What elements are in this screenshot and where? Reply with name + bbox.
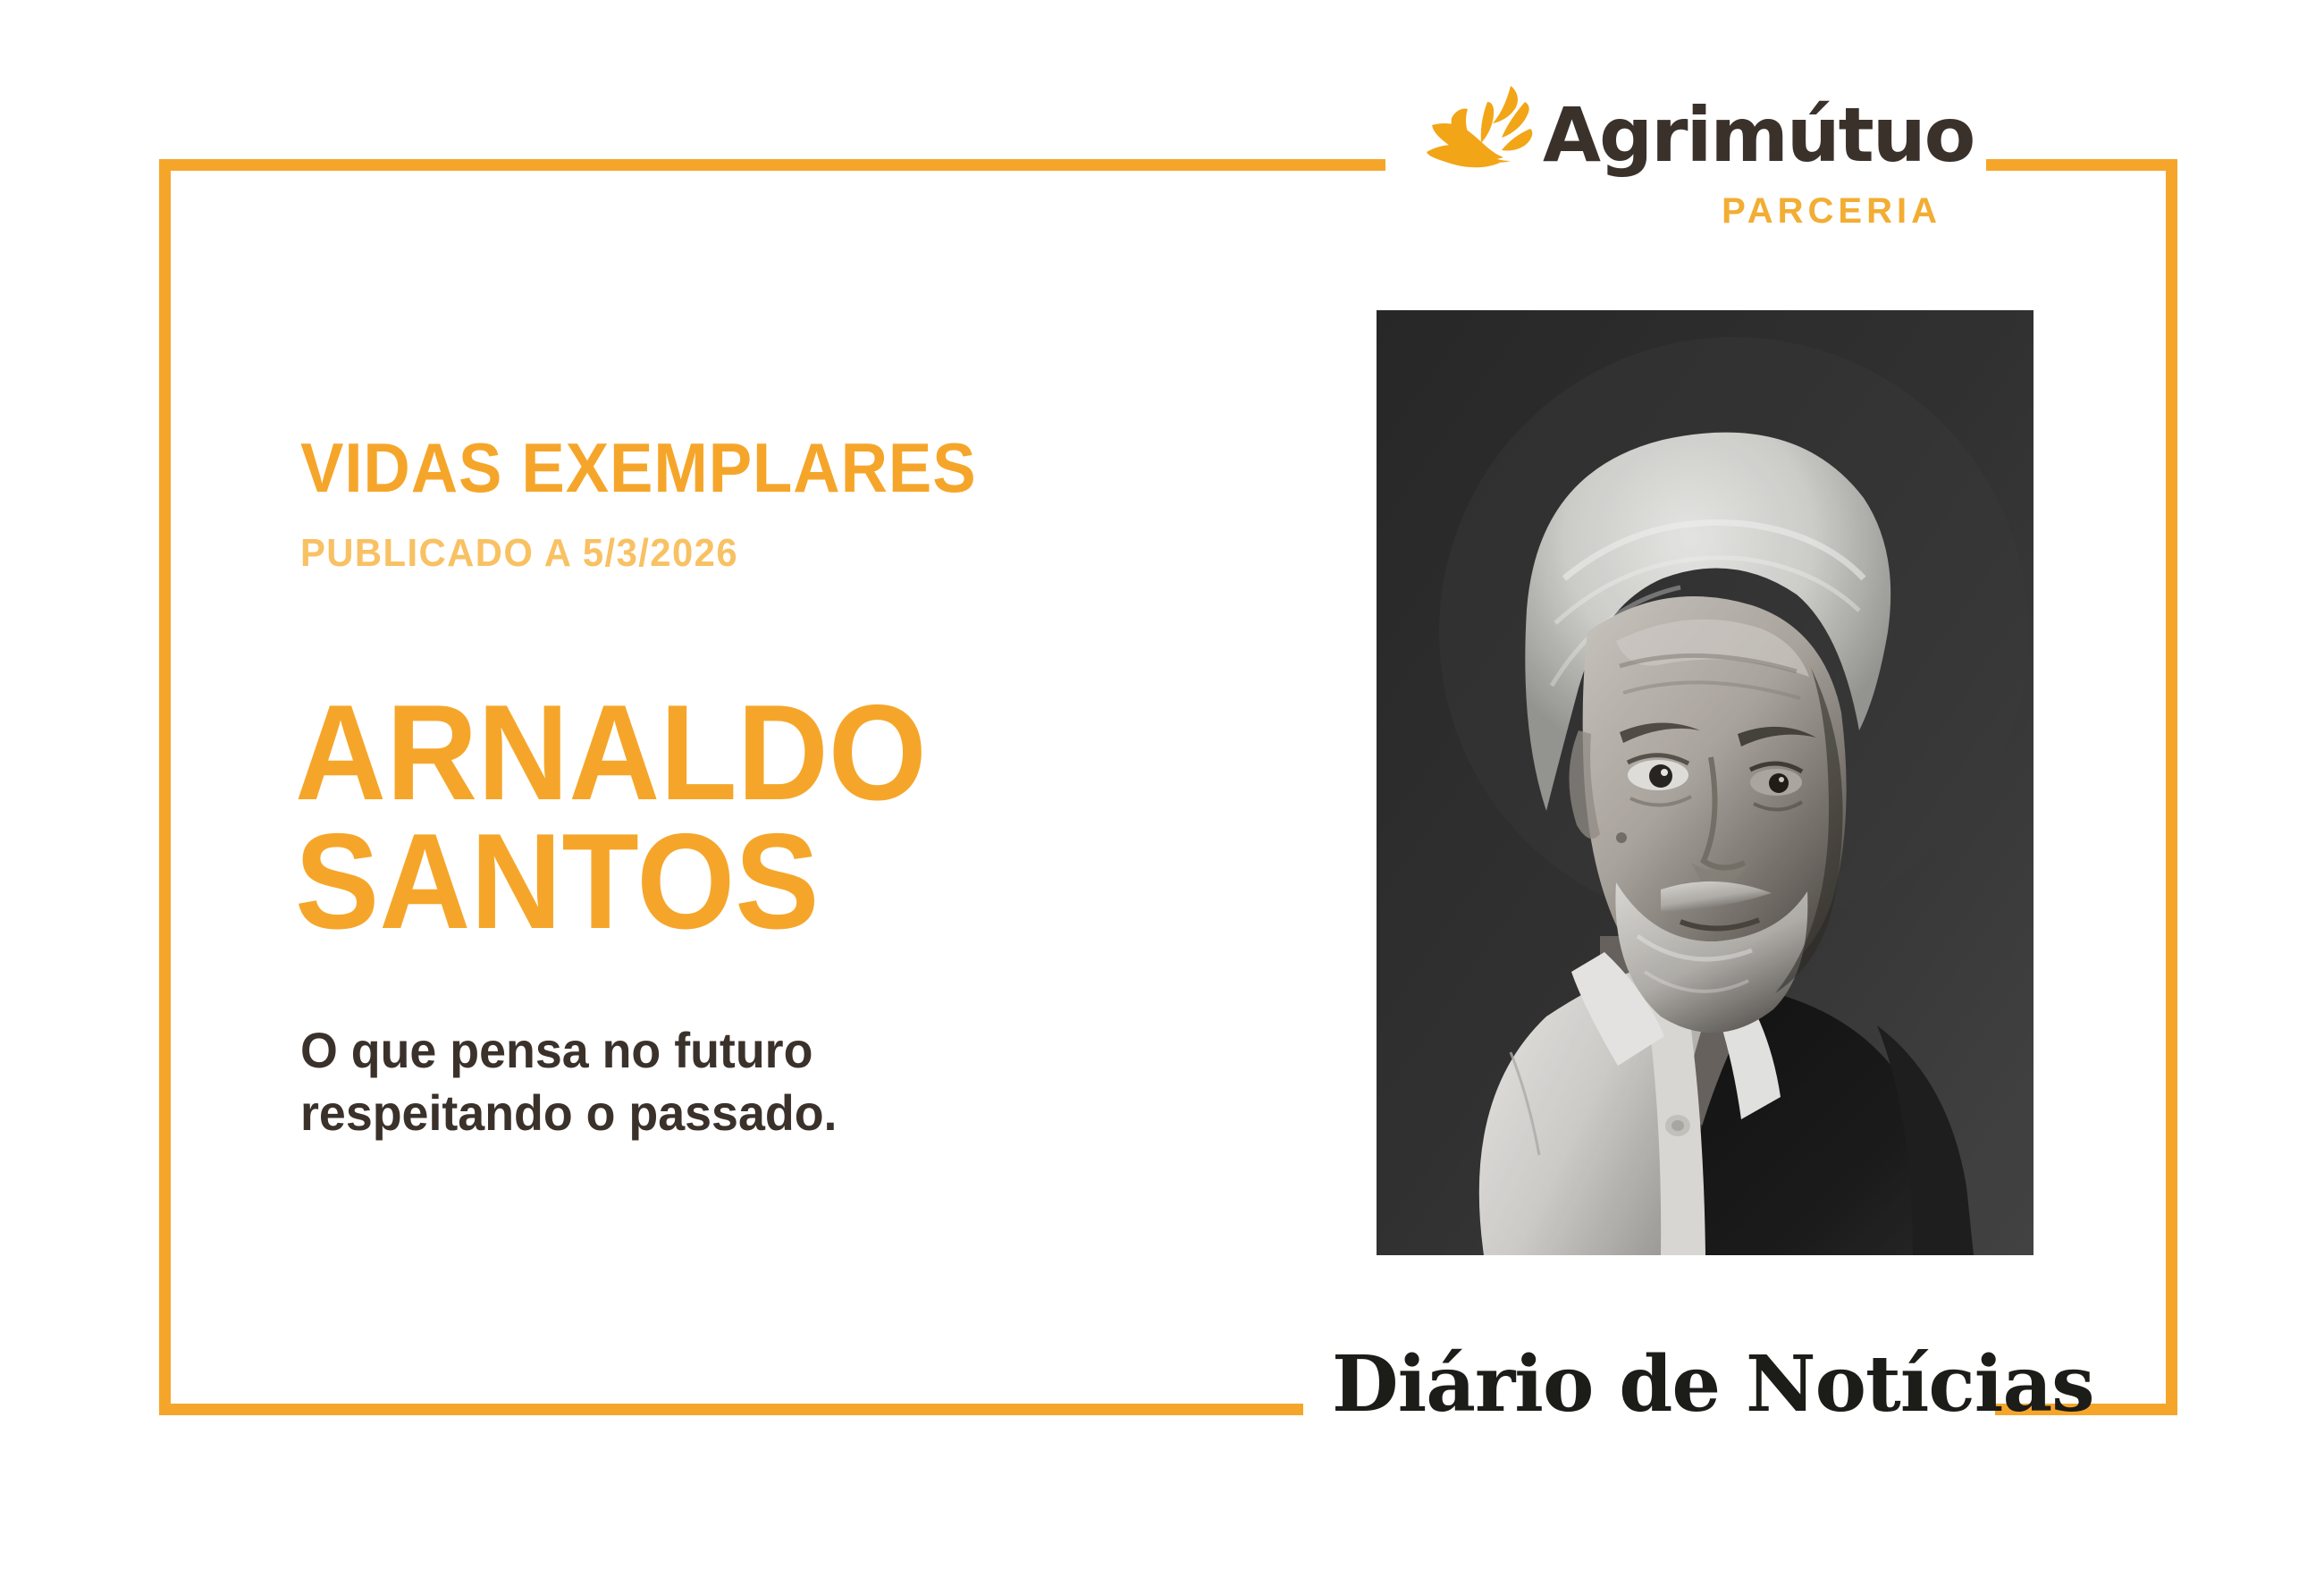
logo-wordmark: Agrimútuo xyxy=(1543,97,1974,173)
published-date: PUBLICADO A 5/3/2026 xyxy=(300,531,738,576)
frame-segment-top-right xyxy=(1986,159,2177,171)
agrimutuo-logo: Agrimútuo PARCERIA xyxy=(1425,82,1979,243)
frame-segment-right xyxy=(2166,159,2177,1415)
portrait-photo xyxy=(1377,310,2033,1255)
promo-card: Agrimútuo PARCERIA VIDAS EXEMPLARES PUBL… xyxy=(0,0,2324,1569)
page-title: ARNALDO SANTOS xyxy=(295,688,927,947)
tagline: O que pensa no futuro respeitando o pass… xyxy=(300,1019,837,1144)
frame-segment-top-left xyxy=(159,159,1385,171)
sun-burst-icon xyxy=(1425,82,1539,188)
section-label: VIDAS EXEMPLARES xyxy=(300,427,977,509)
frame-segment-bottom-left xyxy=(159,1404,1303,1415)
frame-segment-left xyxy=(159,159,171,1415)
newspaper-masthead: Diário de Notícias xyxy=(1332,1339,1966,1430)
logo-sub-label: PARCERIA xyxy=(1425,191,1979,232)
